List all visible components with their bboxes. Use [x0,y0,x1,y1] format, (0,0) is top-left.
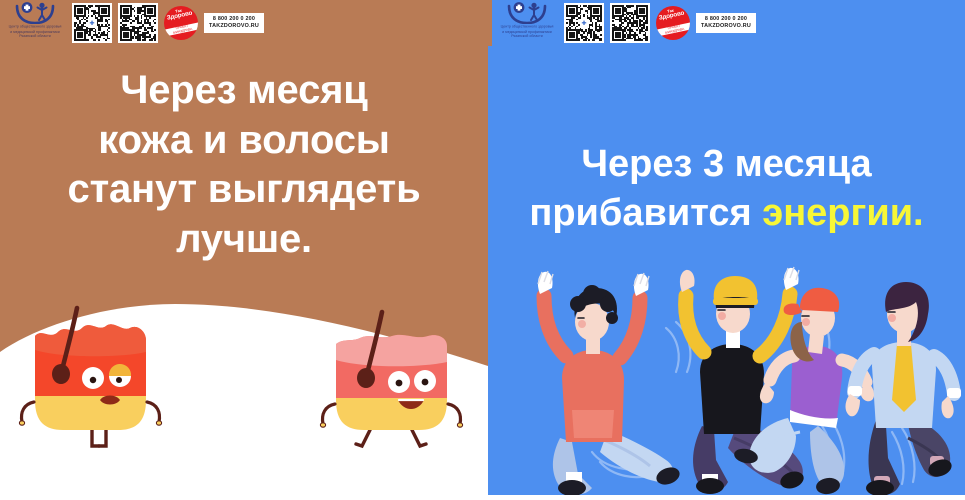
qr-code-2[interactable] [118,3,158,43]
badge-line-3: ПРОЕКТ МИНЗДРАВА [165,23,198,37]
headline-left-line-1: Через месяц [18,66,470,116]
contact-website: TAKZDOROVO.RU [701,23,751,30]
qr-code-1[interactable]: ✚ [72,3,112,43]
headline-left-line-4: лучше. [18,215,470,265]
skin-characters-illustration [0,270,488,500]
organization-logo-text: Центр общественного здоровья и медицинск… [488,25,569,39]
contact-website: TAKZDOROVO.RU [209,23,259,30]
qr-code-2[interactable] [610,3,650,43]
qr-code-1[interactable]: ✚ [564,3,604,43]
takzdorovo-badge[interactable]: Так Здорово ПРОЕКТ МИНЗДРАВА [656,6,690,40]
panel-seam [488,0,492,46]
poster-right-headline: Через 3 месяца прибавится энергии. [488,140,965,237]
health-center-emblem-icon [13,2,57,24]
org-logo-line-3: Рязанской области [0,35,77,40]
health-center-emblem-icon [505,2,549,24]
organization-logo: Центр общественного здоровья и медицинск… [4,2,66,44]
takzdorovo-badge[interactable]: Так Здорово ПРОЕКТ МИНЗДРАВА [164,6,198,40]
headline-left-line-3: станут выглядеть [18,165,470,215]
takzdorovo-badge-inner: Так Здорово ПРОЕКТ МИНЗДРАВА [656,6,690,40]
takzdorovo-badge-inner: Так Здорово ПРОЕКТ МИНЗДРАВА [164,6,198,40]
org-logo-line-3: Рязанской области [488,35,569,40]
badge-line-3: ПРОЕКТ МИНЗДРАВА [657,23,690,37]
headline-right-line-2: прибавится энергии. [506,189,947,238]
organization-logo: Центр общественного здоровья и медицинск… [496,2,558,44]
healthy-skin-character [320,312,462,446]
poster-left-headline: Через месяц кожа и волосы станут выгляде… [0,66,488,264]
headline-right-line-1: Через 3 месяца [506,140,947,189]
contact-plate: 8 800 200 0 200 TAKZDOROVO.RU [204,13,264,33]
poster-right-bottom-strip [488,495,965,500]
contact-phone: 8 800 200 0 200 [701,16,751,23]
contact-phone: 8 800 200 0 200 [209,16,259,23]
headline-left-line-2: кожа и волосы [18,116,470,166]
qr-code-2-pattern [612,5,648,41]
dancing-people-illustration [488,260,965,500]
organization-logo-text: Центр общественного здоровья и медицинск… [0,25,77,39]
qr-code-1-center-icon: ✚ [580,19,589,28]
qr-code-1-center-icon: ✚ [88,19,97,28]
poster-right: Центр общественного здоровья и медицинск… [488,0,965,500]
poster-left: Центр общественного здоровья и медицинск… [0,0,488,500]
unhealthy-skin-character [19,308,161,446]
branding-header-left: Центр общественного здоровья и медицинск… [0,0,488,46]
headline-right-accent: энергии. [762,192,923,234]
qr-code-2-pattern [120,5,156,41]
branding-header-right: Центр общественного здоровья и медицинск… [488,0,965,46]
dancer-red-sweater [538,271,682,496]
contact-plate: 8 800 200 0 200 TAKZDOROVO.RU [696,13,756,33]
poster-pair: Центр общественного здоровья и медицинск… [0,0,965,500]
headline-right-plain: прибавится [529,192,762,234]
